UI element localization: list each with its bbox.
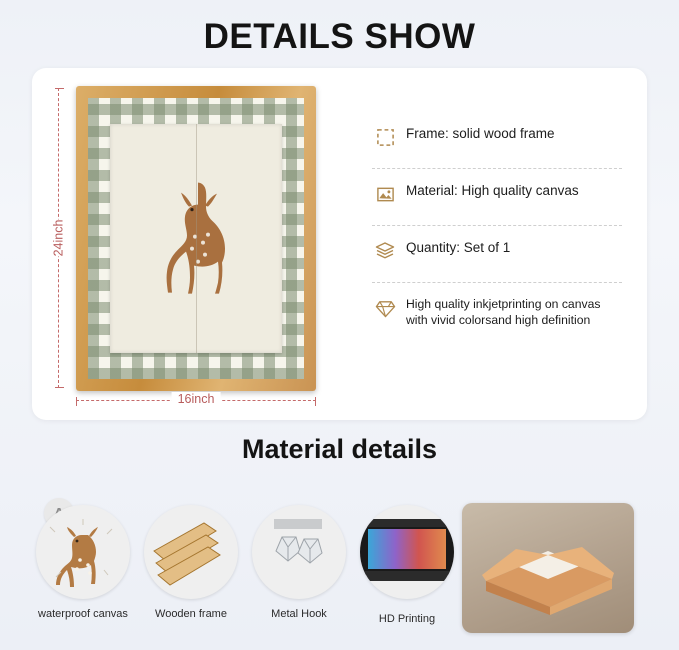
wood-frame xyxy=(76,86,316,391)
dim-cap-right xyxy=(315,397,316,406)
spec-text-material: Material: High quality canvas xyxy=(406,182,579,200)
package-image xyxy=(462,503,634,633)
material-item-wood: Wooden frame xyxy=(144,505,238,625)
material-label-canvas: waterproof canvas xyxy=(36,608,130,620)
page-root: DETAILS SHOW xyxy=(0,0,679,650)
material-label-wood: Wooden frame xyxy=(144,608,238,620)
spec-row-quantity: Quantity: Set of 1 xyxy=(372,226,622,283)
material-section-title: Material details xyxy=(0,434,679,465)
material-items: waterproof canvas Wooden frame xyxy=(36,505,456,625)
spec-text-frame: Frame: solid wood frame xyxy=(406,125,555,143)
dim-cap-bottom xyxy=(55,387,64,388)
material-item-hd: HD Printing xyxy=(360,505,454,625)
page-title: DETAILS SHOW xyxy=(0,0,679,57)
dim-cap-top xyxy=(55,88,64,89)
layers-icon xyxy=(374,240,396,262)
material-item-hook: Metal Hook xyxy=(252,505,346,625)
spec-text-quantity: Quantity: Set of 1 xyxy=(406,239,510,257)
deer-canvas-icon xyxy=(36,505,130,599)
width-dimension: 16inch xyxy=(76,400,316,415)
spec-row-printing: High quality inkjetprinting on canvas wi… xyxy=(372,283,622,342)
shipping-box-icon xyxy=(462,503,634,633)
material-item-canvas: waterproof canvas xyxy=(36,505,130,625)
frame-icon xyxy=(374,126,396,148)
details-card: 24inch 16inch Frame: solid wood frame xyxy=(32,68,647,420)
product-frame-image xyxy=(76,86,316,391)
height-dimension-label: 24inch xyxy=(49,220,67,257)
image-icon xyxy=(374,183,396,205)
material-label-hook: Metal Hook xyxy=(252,608,346,620)
frame-inner xyxy=(88,98,304,379)
art-paper xyxy=(110,124,282,353)
spec-text-printing: High quality inkjetprinting on canvas wi… xyxy=(406,296,622,329)
deer-illustration-icon xyxy=(148,176,244,306)
spec-row-frame: Frame: solid wood frame xyxy=(372,112,622,169)
height-dimension: 24inch xyxy=(58,88,73,388)
dim-cap-left xyxy=(76,397,77,406)
width-dimension-label: 16inch xyxy=(172,392,221,406)
spec-list: Frame: solid wood frame Material: High q… xyxy=(372,112,622,342)
material-label-hd: HD Printing xyxy=(360,613,454,625)
diamond-icon xyxy=(374,297,396,319)
metal-hook-icon xyxy=(252,505,346,599)
spec-row-material: Material: High quality canvas xyxy=(372,169,622,226)
hd-print-icon xyxy=(360,505,454,599)
wood-frame-icon xyxy=(144,505,238,599)
